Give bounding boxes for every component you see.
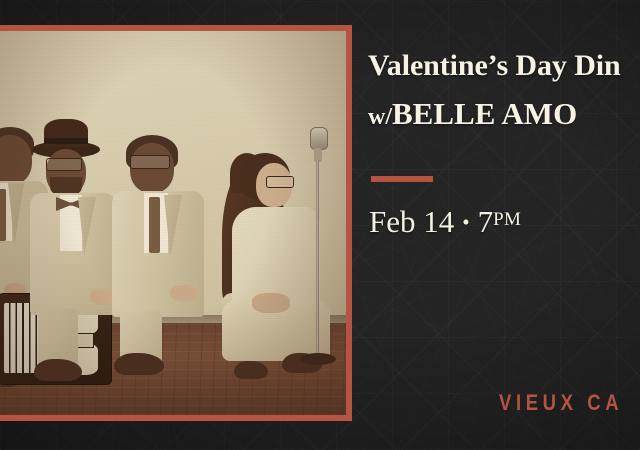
- event-date: Feb 14: [369, 204, 454, 239]
- event-datetime: Feb 14•7PM: [369, 205, 640, 239]
- event-artist-line: w/BELLE AMO: [368, 97, 640, 131]
- event-headline: Valentine’s Day Din: [368, 49, 640, 83]
- event-time-number: 7: [478, 204, 494, 239]
- artist-name: BELLE AMO: [392, 96, 577, 131]
- venue-logo-text: VIEUX CA: [499, 390, 623, 416]
- photo-film-grain: [0, 31, 346, 415]
- event-time-meridiem: PM: [493, 209, 521, 230]
- band-photo-image: [0, 31, 346, 415]
- band-photo-panel: [0, 25, 352, 421]
- poster-text-column: Valentine’s Day Din w/BELLE AMO Feb 14•7…: [368, 0, 640, 450]
- datetime-separator-dot: •: [462, 211, 469, 234]
- artist-prefix: w/: [368, 104, 392, 130]
- poster-canvas: Valentine’s Day Din w/BELLE AMO Feb 14•7…: [0, 0, 640, 450]
- accent-divider-rule: [371, 176, 433, 182]
